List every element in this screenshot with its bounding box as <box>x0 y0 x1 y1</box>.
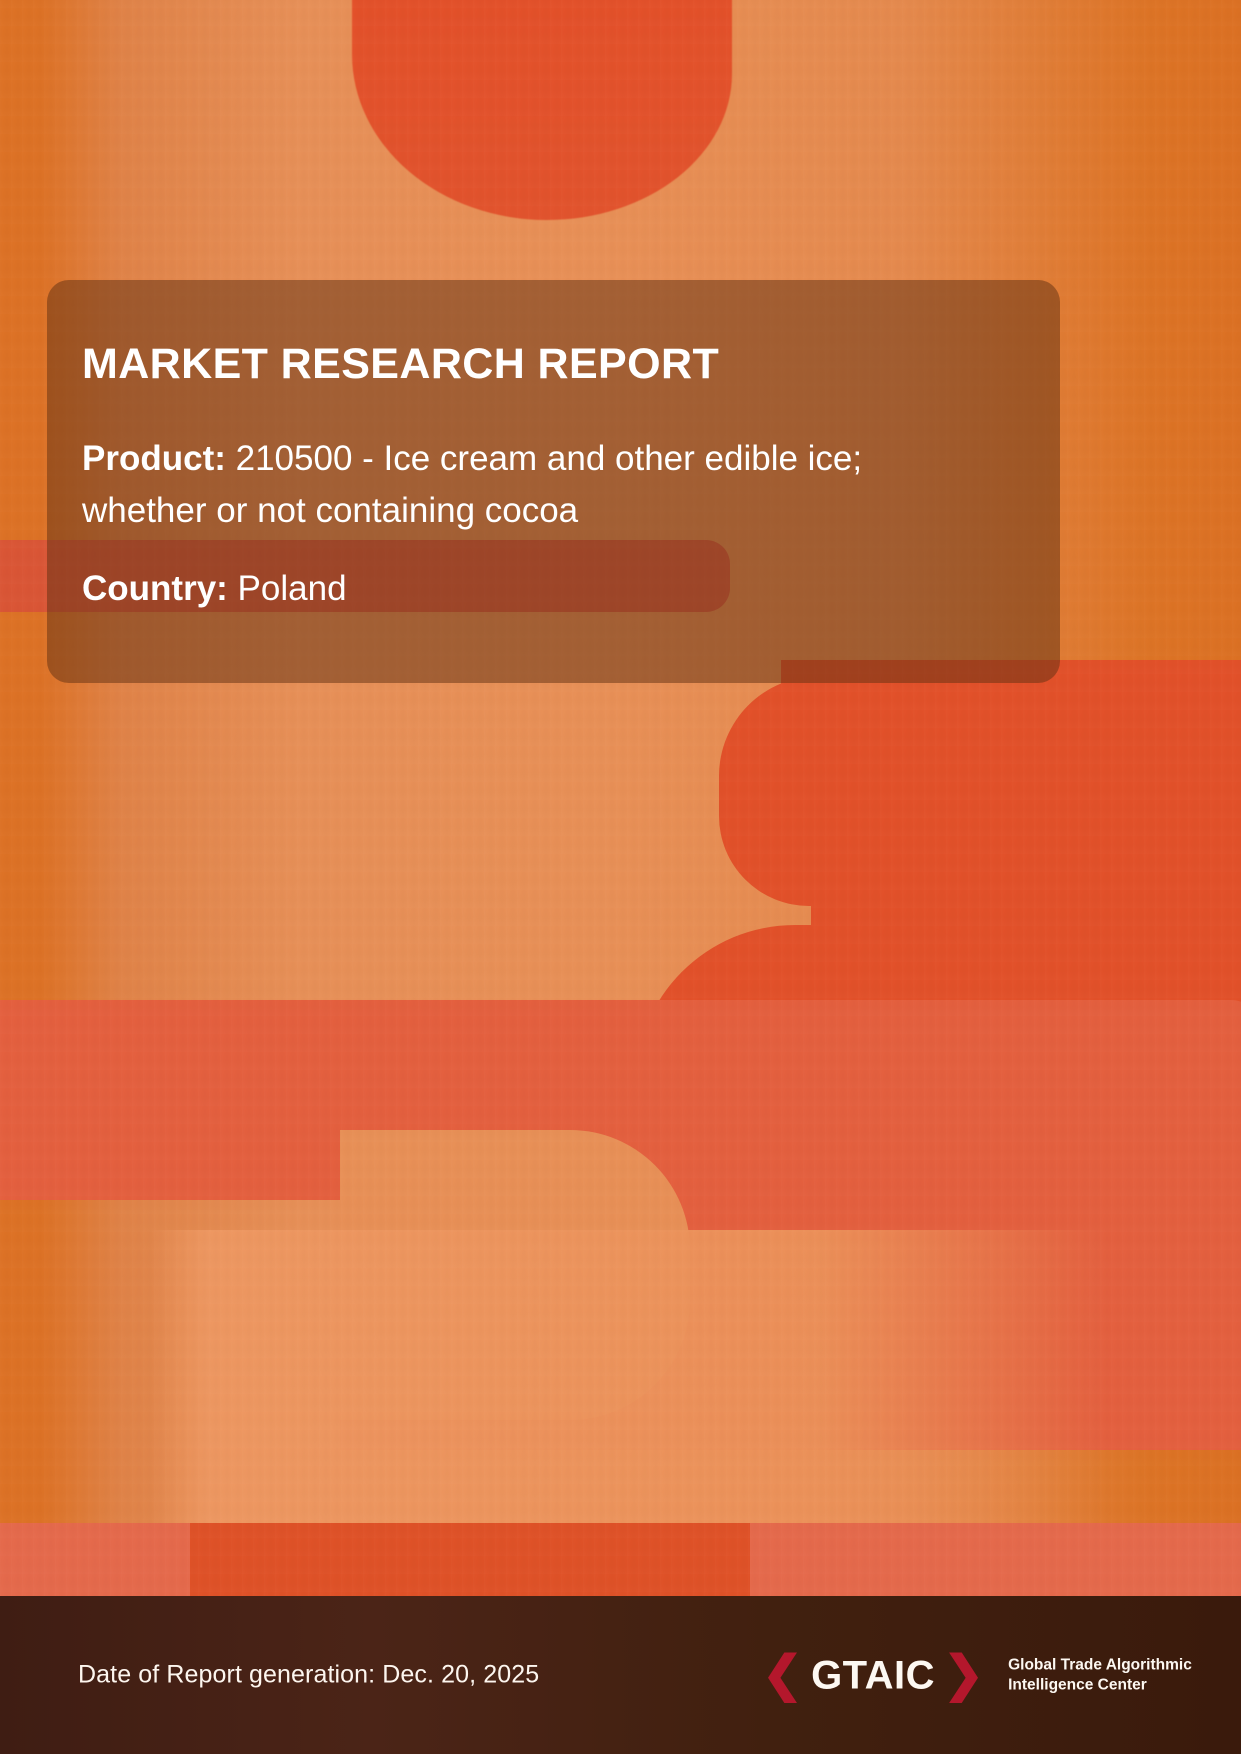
product-line: Product: 210500 - Ice cream and other ed… <box>82 433 982 537</box>
title-card: MARKET RESEARCH REPORT Product: 210500 -… <box>47 280 1060 683</box>
report-generation-date: Date of Report generation: Dec. 20, 2025 <box>78 1661 539 1690</box>
report-cover-page: MARKET RESEARCH REPORT Product: 210500 -… <box>0 0 1241 1754</box>
page-footer: Date of Report generation: Dec. 20, 2025… <box>0 1596 1241 1754</box>
gtaic-tagline-line-2: Intelligence Center <box>1008 1676 1147 1693</box>
gtaic-logo: ❮ GTAIC ❯ Global Trade Algorithmic Intel… <box>762 1651 1192 1700</box>
product-label: Product: <box>82 439 226 478</box>
gtaic-tagline-line-1: Global Trade Algorithmic <box>1008 1657 1192 1674</box>
background-artwork <box>0 0 1241 1754</box>
gtaic-wordmark: GTAIC <box>811 1655 935 1695</box>
page-title: MARKET RESEARCH REPORT <box>82 342 1000 387</box>
brace-left-icon: ❮ <box>762 1651 803 1700</box>
brace-right-icon: ❯ <box>943 1651 984 1700</box>
background-texture <box>0 0 1241 1754</box>
country-value: Poland <box>238 569 347 608</box>
gtaic-tagline: Global Trade Algorithmic Intelligence Ce… <box>1008 1656 1192 1695</box>
country-label: Country: <box>82 569 228 608</box>
country-line: Country: Poland <box>82 563 982 615</box>
